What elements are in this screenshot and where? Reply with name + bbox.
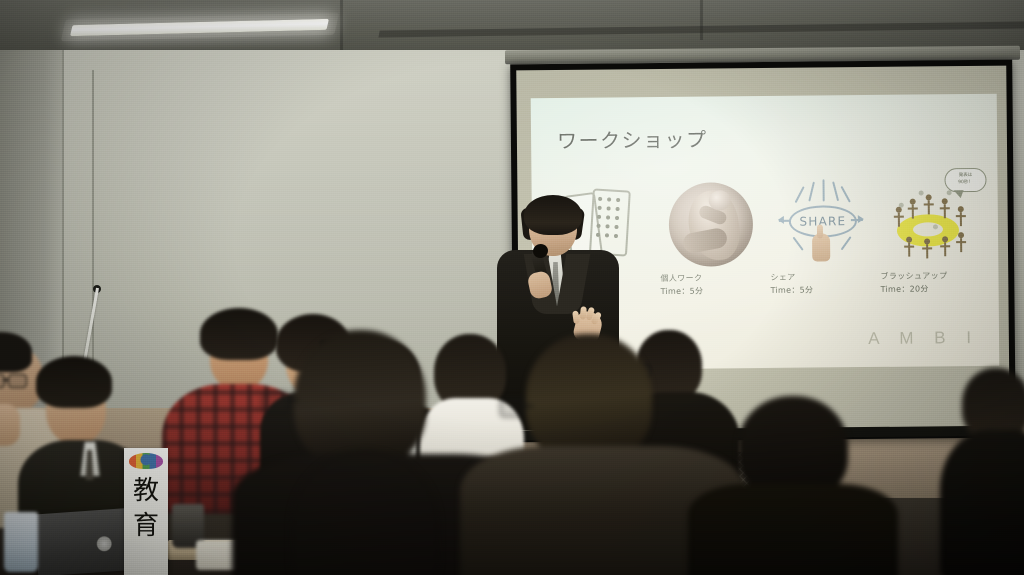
blue-can[interactable]: [4, 512, 38, 572]
audience-person-right-foreground: [688, 396, 888, 575]
slide-step-share: SHARE シェア Time：5分: [766, 181, 877, 296]
table-placard-education: 教 育: [124, 448, 168, 575]
speech-bubble: 発表は 90秒！: [944, 168, 986, 192]
share-hand-icon: SHARE: [779, 181, 864, 266]
audience-long-hair-foreground: [250, 450, 490, 575]
slide-step-brushup: 発表は 90秒！ ブラッシュアップ Time：20分: [876, 180, 987, 295]
slide-step-individual-work: 個人ワーク Time：5分: [656, 182, 767, 297]
slide-step-time: Time：5分: [763, 284, 881, 296]
hand-icon: [812, 233, 830, 261]
laptop-logo: [95, 535, 112, 552]
placard-kanji-line1: 教: [124, 477, 168, 506]
photo-scene: ワークショップ インプット: [0, 0, 1024, 575]
group-discussion-icon: 発表は 90秒！: [889, 180, 974, 265]
audience-person-right-edge: [940, 368, 1024, 575]
slide-title: ワークショップ: [557, 124, 708, 154]
placard-kanji-line2: 育: [124, 512, 168, 541]
slide-step-time: Time：20分: [873, 283, 991, 295]
thinker-statue-icon: [669, 182, 754, 267]
presenter-hair: [524, 195, 582, 235]
slide-step-label: 個人ワーク: [652, 272, 770, 284]
slide-step-label: シェア: [762, 271, 880, 283]
slide-step-time: Time：5分: [653, 285, 771, 297]
ceiling-seam: [700, 0, 703, 40]
speech-bubble-line2: 90秒！: [958, 180, 973, 187]
ambi-logo: A M B I: [868, 328, 979, 349]
placard-emblem: [129, 453, 163, 469]
slide-step-label: ブラッシュアップ: [872, 270, 990, 282]
